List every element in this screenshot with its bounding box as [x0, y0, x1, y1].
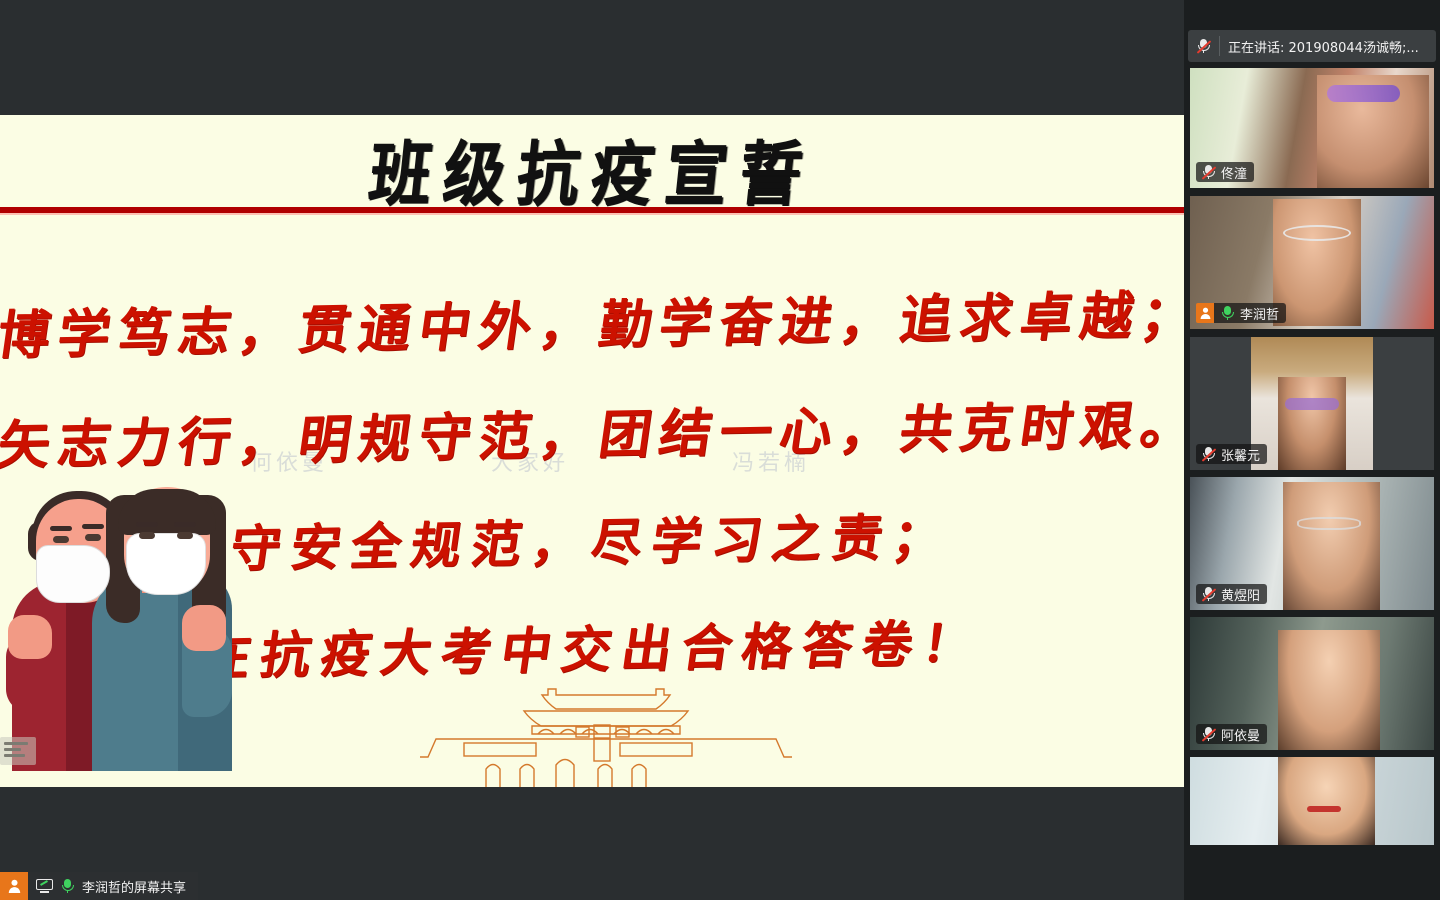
- oath-line-1: 博学笃志，贯通中外，勤学奋进，追求卓越；: [0, 273, 1184, 369]
- participant-name: 佟潼: [1221, 163, 1247, 182]
- slide-title: 班级抗疫宣誓: [0, 118, 1184, 219]
- title-divider: [0, 207, 1184, 213]
- oath-line-2: 矢志力行，明规守范，团结一心，共克时艰。: [0, 383, 1184, 479]
- mic-muted-icon: [1201, 586, 1216, 602]
- host-badge-icon: [1196, 303, 1214, 323]
- share-status-label: 李润哲的屏幕共享: [82, 877, 186, 896]
- mic-muted-icon: [1201, 446, 1216, 462]
- participant-name: 张馨元: [1221, 445, 1260, 464]
- mic-active-icon: [60, 878, 75, 894]
- participant-name-chip: 张馨元: [1196, 444, 1267, 464]
- video-tile[interactable]: 张馨元: [1190, 337, 1434, 470]
- divider: [1219, 36, 1220, 56]
- mic-muted-icon: [1201, 164, 1216, 180]
- screen-share-icon: [36, 879, 53, 893]
- video-tile[interactable]: 阿依曼: [1190, 617, 1434, 750]
- participant-name-chip: 李润哲: [1196, 303, 1286, 323]
- video-tile[interactable]: 佟潼: [1190, 68, 1434, 188]
- video-stream: [1190, 757, 1434, 845]
- host-person-icon: [0, 872, 28, 900]
- video-tile[interactable]: [1190, 757, 1434, 845]
- presentation-slide: 班级抗疫宣誓 何依曼 大家好 冯若楠 博学笃志，贯通中外，勤学奋进，追求卓越； …: [0, 115, 1184, 787]
- participant-name-chip: 佟潼: [1196, 162, 1254, 182]
- mic-muted-icon: [1201, 726, 1216, 742]
- participant-name-chip: 黄煜阳: [1196, 584, 1267, 604]
- participant-name: 黄煜阳: [1221, 585, 1260, 604]
- mic-muted-icon: [1196, 38, 1211, 54]
- masked-people-illustration: [6, 486, 238, 771]
- shared-screen-area[interactable]: 班级抗疫宣誓 何依曼 大家好 冯若楠 博学笃志，贯通中外，勤学奋进，追求卓越； …: [0, 0, 1184, 900]
- zoom-meeting-window: 班级抗疫宣誓 何依曼 大家好 冯若楠 博学笃志，贯通中外，勤学奋进，追求卓越； …: [0, 0, 1440, 900]
- video-tile[interactable]: 李润哲: [1190, 196, 1434, 329]
- participant-name: 阿依曼: [1221, 725, 1260, 744]
- slide-mini-widget[interactable]: [0, 737, 36, 765]
- screen-share-status-bar: 李润哲的屏幕共享: [0, 872, 198, 900]
- participant-video-panel: 正在讲话: 201908044汤诚畅;... 佟潼: [1184, 0, 1440, 900]
- mic-active-icon: [1220, 305, 1235, 321]
- tiananmen-gate-icon: [420, 677, 792, 787]
- participant-name: 李润哲: [1240, 304, 1279, 323]
- video-tile[interactable]: 黄煜阳: [1190, 477, 1434, 610]
- participant-name-chip: 阿依曼: [1196, 724, 1267, 744]
- active-speaker-label: 正在讲话: 201908044汤诚畅;...: [1228, 37, 1419, 56]
- active-speaker-bar: 正在讲话: 201908044汤诚畅;...: [1188, 30, 1436, 62]
